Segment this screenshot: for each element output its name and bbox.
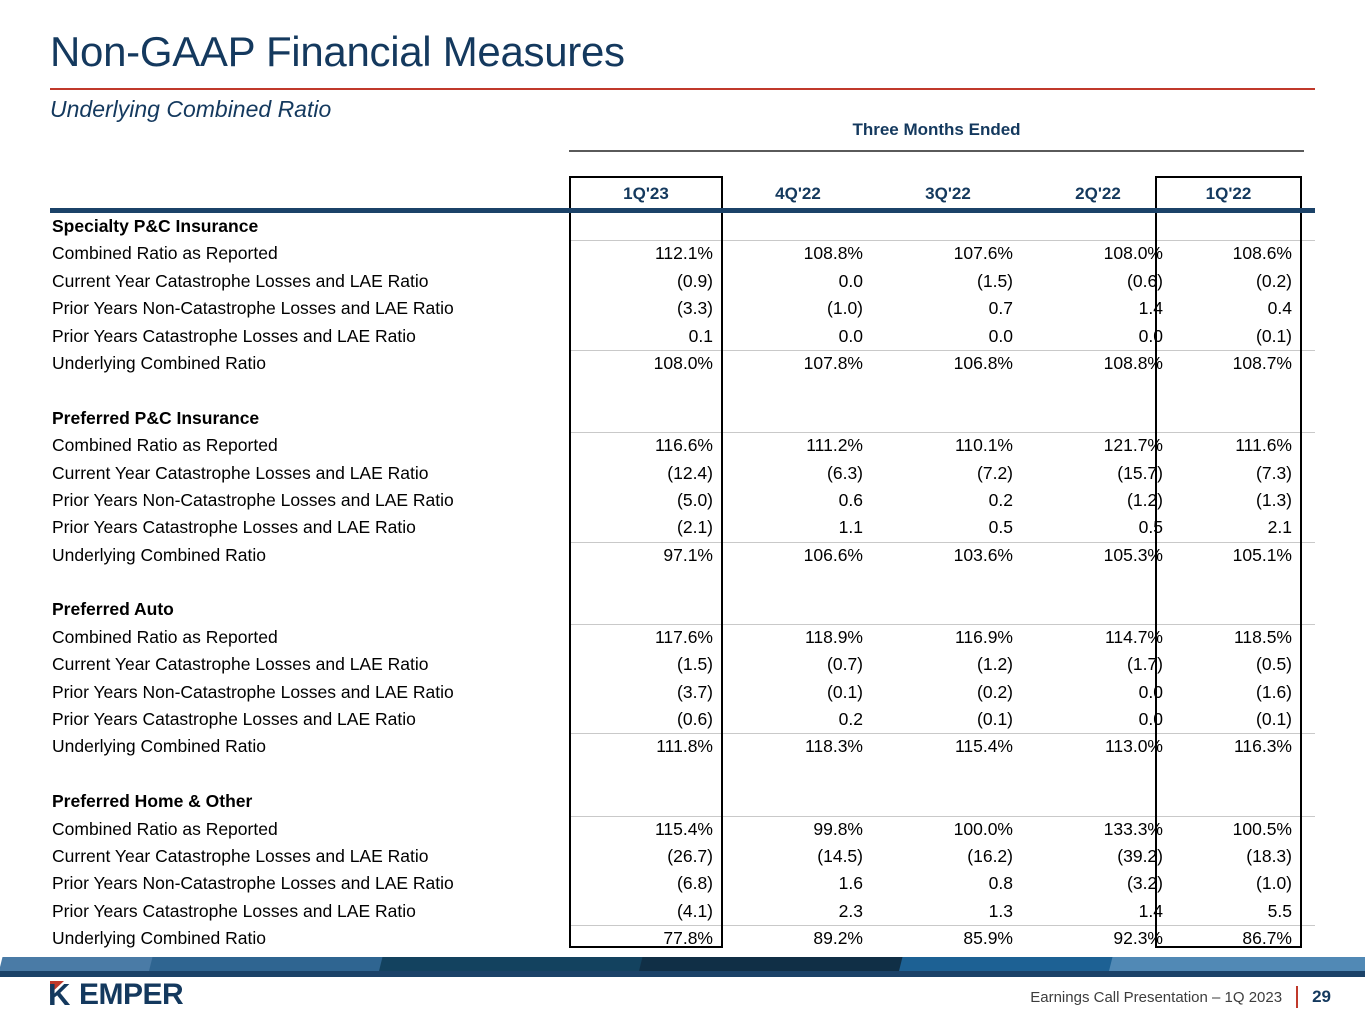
table-cell: 92.3% xyxy=(1023,925,1163,952)
table-cell: 0.8 xyxy=(873,870,1013,897)
kemper-logo: K EMPER xyxy=(48,980,183,1010)
table-cell: 108.8% xyxy=(723,240,863,267)
table-cell: 107.6% xyxy=(873,240,1013,267)
table-cell: (0.1) xyxy=(1155,706,1292,733)
table-cell: (1.2) xyxy=(1023,487,1163,514)
table-cell: 2.3 xyxy=(723,898,863,925)
table-cell: 1.3 xyxy=(873,898,1013,925)
table-cell: 1.4 xyxy=(1023,295,1163,322)
table-cell: 0.0 xyxy=(1023,706,1163,733)
row-label: Current Year Catastrophe Losses and LAE … xyxy=(52,460,428,487)
table-cell: 106.6% xyxy=(723,542,863,569)
table-spacer-row xyxy=(50,569,1315,596)
row-label: Current Year Catastrophe Losses and LAE … xyxy=(52,651,428,678)
table-cell: 111.2% xyxy=(723,432,863,459)
table-cell: (16.2) xyxy=(873,843,1013,870)
table-row: Combined Ratio as Reported115.4%99.8%100… xyxy=(50,816,1315,843)
table-cell: 117.6% xyxy=(569,624,713,651)
table-cell: 0.6 xyxy=(723,487,863,514)
table-cell: 2.1 xyxy=(1155,514,1292,541)
kemper-logo-k: K xyxy=(48,980,69,1010)
table-cell: (3.3) xyxy=(569,295,713,322)
row-label: Underlying Combined Ratio xyxy=(52,350,266,377)
kemper-logo-wordmark: EMPER xyxy=(79,980,183,1010)
table-body: Specialty P&C InsuranceCombined Ratio as… xyxy=(50,213,1315,953)
table-cell: (12.4) xyxy=(569,460,713,487)
table-cell: 0.0 xyxy=(723,268,863,295)
table-cell: 0.5 xyxy=(873,514,1013,541)
table-row: Prior Years Non-Catastrophe Losses and L… xyxy=(50,679,1315,706)
section-header-label: Preferred Auto xyxy=(52,596,174,623)
table-cell: 100.0% xyxy=(873,816,1013,843)
non-gaap-table: Three Months Ended 1Q'234Q'223Q'222Q'221… xyxy=(50,120,1315,950)
row-label: Current Year Catastrophe Losses and LAE … xyxy=(52,843,428,870)
section-header-label: Preferred Home & Other xyxy=(52,788,252,815)
table-cell: (3.2) xyxy=(1023,870,1163,897)
table-row: Underlying Combined Ratio77.8%89.2%85.9%… xyxy=(50,925,1315,952)
column-group-header: Three Months Ended xyxy=(569,120,1304,140)
row-label: Underlying Combined Ratio xyxy=(52,733,266,760)
table-row: Combined Ratio as Reported112.1%108.8%10… xyxy=(50,240,1315,267)
table-row: Underlying Combined Ratio111.8%118.3%115… xyxy=(50,733,1315,760)
table-spacer-row xyxy=(50,761,1315,788)
table-cell: 105.1% xyxy=(1155,542,1292,569)
table-cell: 121.7% xyxy=(1023,432,1163,459)
row-label: Combined Ratio as Reported xyxy=(52,432,278,459)
table-row: Underlying Combined Ratio97.1%106.6%103.… xyxy=(50,542,1315,569)
table-cell: (0.6) xyxy=(569,706,713,733)
page-number: 29 xyxy=(1312,987,1331,1007)
table-section-header: Preferred P&C Insurance xyxy=(50,405,1315,432)
table-spacer-row xyxy=(50,377,1315,404)
footer-rule xyxy=(0,971,1365,977)
table-row: Prior Years Catastrophe Losses and LAE R… xyxy=(50,898,1315,925)
table-cell: (1.7) xyxy=(1023,651,1163,678)
table-cell: 108.0% xyxy=(569,350,713,377)
table-cell: 0.2 xyxy=(723,706,863,733)
table-cell: (0.5) xyxy=(1155,651,1292,678)
table-cell: 103.6% xyxy=(873,542,1013,569)
table-section-header: Preferred Auto xyxy=(50,596,1315,623)
table-row: Prior Years Catastrophe Losses and LAE R… xyxy=(50,706,1315,733)
row-label: Underlying Combined Ratio xyxy=(52,925,266,952)
table-cell: 86.7% xyxy=(1155,925,1292,952)
table-cell: (3.7) xyxy=(569,679,713,706)
column-header-3q22: 3Q'22 xyxy=(873,178,1023,210)
table-cell: 0.1 xyxy=(569,323,713,350)
table-cell: 97.1% xyxy=(569,542,713,569)
table-cell: 100.5% xyxy=(1155,816,1292,843)
table-row: Prior Years Non-Catastrophe Losses and L… xyxy=(50,295,1315,322)
page-title: Non-GAAP Financial Measures xyxy=(50,28,625,76)
page-subtitle: Underlying Combined Ratio xyxy=(50,96,331,123)
table-cell: 0.7 xyxy=(873,295,1013,322)
row-label: Prior Years Catastrophe Losses and LAE R… xyxy=(52,323,416,350)
table-cell: (6.3) xyxy=(723,460,863,487)
table-cell: (1.0) xyxy=(1155,870,1292,897)
row-label: Prior Years Catastrophe Losses and LAE R… xyxy=(52,898,416,925)
table-row: Combined Ratio as Reported116.6%111.2%11… xyxy=(50,432,1315,459)
table-cell: (4.1) xyxy=(569,898,713,925)
table-cell: 0.5 xyxy=(1023,514,1163,541)
table-cell: 108.7% xyxy=(1155,350,1292,377)
table-cell: 118.5% xyxy=(1155,624,1292,651)
row-label: Combined Ratio as Reported xyxy=(52,240,278,267)
table-cell: (0.6) xyxy=(1023,268,1163,295)
table-cell: (0.1) xyxy=(873,706,1013,733)
table-section-header: Preferred Home & Other xyxy=(50,788,1315,815)
table-cell: (0.2) xyxy=(873,679,1013,706)
table-cell: (0.2) xyxy=(1155,268,1292,295)
table-cell: (7.3) xyxy=(1155,460,1292,487)
row-label: Prior Years Catastrophe Losses and LAE R… xyxy=(52,706,416,733)
table-row: Current Year Catastrophe Losses and LAE … xyxy=(50,843,1315,870)
table-cell: 111.8% xyxy=(569,733,713,760)
table-cell: 118.9% xyxy=(723,624,863,651)
table-row: Underlying Combined Ratio108.0%107.8%106… xyxy=(50,350,1315,377)
column-group-rule xyxy=(569,150,1304,152)
table-row: Prior Years Catastrophe Losses and LAE R… xyxy=(50,514,1315,541)
table-cell: (0.7) xyxy=(723,651,863,678)
table-cell: 0.0 xyxy=(723,323,863,350)
table-cell: (5.0) xyxy=(569,487,713,514)
row-label: Prior Years Non-Catastrophe Losses and L… xyxy=(52,679,454,706)
table-cell: 5.5 xyxy=(1155,898,1292,925)
table-cell: 85.9% xyxy=(873,925,1013,952)
table-cell: 1.1 xyxy=(723,514,863,541)
table-cell: (1.5) xyxy=(569,651,713,678)
table-cell: (1.2) xyxy=(873,651,1013,678)
table-row: Current Year Catastrophe Losses and LAE … xyxy=(50,460,1315,487)
row-label: Combined Ratio as Reported xyxy=(52,816,278,843)
table-cell: 107.8% xyxy=(723,350,863,377)
table-cell: 77.8% xyxy=(569,925,713,952)
footer-meta: Earnings Call Presentation – 1Q 2023 29 xyxy=(1030,985,1331,1009)
table-row: Current Year Catastrophe Losses and LAE … xyxy=(50,268,1315,295)
table-cell: (2.1) xyxy=(569,514,713,541)
table-cell: 114.7% xyxy=(1023,624,1163,651)
title-underline-rule xyxy=(50,88,1315,90)
table-cell: 0.0 xyxy=(873,323,1013,350)
row-label: Underlying Combined Ratio xyxy=(52,542,266,569)
footer-caption: Earnings Call Presentation – 1Q 2023 xyxy=(1030,989,1282,1006)
table-cell: 0.2 xyxy=(873,487,1013,514)
table-cell: 106.8% xyxy=(873,350,1013,377)
column-header-2q22: 2Q'22 xyxy=(1023,178,1173,210)
table-row: Prior Years Non-Catastrophe Losses and L… xyxy=(50,487,1315,514)
table-cell: 133.3% xyxy=(1023,816,1163,843)
table-header-thick-rule xyxy=(50,208,1315,213)
table-cell: (1.6) xyxy=(1155,679,1292,706)
table-cell: 108.8% xyxy=(1023,350,1163,377)
table-cell: 112.1% xyxy=(569,240,713,267)
table-cell: 1.4 xyxy=(1023,898,1163,925)
table-cell: (39.2) xyxy=(1023,843,1163,870)
table-section-header: Specialty P&C Insurance xyxy=(50,213,1315,240)
table-cell: 111.6% xyxy=(1155,432,1292,459)
table-cell: (14.5) xyxy=(723,843,863,870)
row-label: Prior Years Non-Catastrophe Losses and L… xyxy=(52,295,454,322)
table-cell: (7.2) xyxy=(873,460,1013,487)
table-cell: 0.4 xyxy=(1155,295,1292,322)
table-cell: 1.6 xyxy=(723,870,863,897)
row-label: Prior Years Catastrophe Losses and LAE R… xyxy=(52,514,416,541)
table-cell: 116.3% xyxy=(1155,733,1292,760)
section-header-label: Specialty P&C Insurance xyxy=(52,213,258,240)
table-cell: (1.5) xyxy=(873,268,1013,295)
table-row: Combined Ratio as Reported117.6%118.9%11… xyxy=(50,624,1315,651)
row-label: Combined Ratio as Reported xyxy=(52,624,278,651)
table-row: Prior Years Catastrophe Losses and LAE R… xyxy=(50,323,1315,350)
table-cell: 118.3% xyxy=(723,733,863,760)
section-header-label: Preferred P&C Insurance xyxy=(52,405,259,432)
table-row: Current Year Catastrophe Losses and LAE … xyxy=(50,651,1315,678)
kemper-k-mark-icon: K xyxy=(48,980,78,1010)
table-cell: (15.7) xyxy=(1023,460,1163,487)
table-cell: 116.6% xyxy=(569,432,713,459)
row-label: Prior Years Non-Catastrophe Losses and L… xyxy=(52,870,454,897)
table-row: Prior Years Non-Catastrophe Losses and L… xyxy=(50,870,1315,897)
column-header-1q22: 1Q'22 xyxy=(1155,178,1302,210)
table-cell: 115.4% xyxy=(873,733,1013,760)
table-cell: (0.1) xyxy=(723,679,863,706)
table-cell: 113.0% xyxy=(1023,733,1163,760)
table-cell: 89.2% xyxy=(723,925,863,952)
column-header-4q22: 4Q'22 xyxy=(723,178,873,210)
table-cell: 115.4% xyxy=(569,816,713,843)
table-cell: (18.3) xyxy=(1155,843,1292,870)
table-cell: (26.7) xyxy=(569,843,713,870)
table-cell: 108.0% xyxy=(1023,240,1163,267)
row-label: Prior Years Non-Catastrophe Losses and L… xyxy=(52,487,454,514)
table-cell: (6.8) xyxy=(569,870,713,897)
table-cell: 116.9% xyxy=(873,624,1013,651)
row-label: Current Year Catastrophe Losses and LAE … xyxy=(52,268,428,295)
table-cell: 108.6% xyxy=(1155,240,1292,267)
table-cell: (1.0) xyxy=(723,295,863,322)
table-cell: (1.3) xyxy=(1155,487,1292,514)
table-cell: 110.1% xyxy=(873,432,1013,459)
table-cell: 0.0 xyxy=(1023,323,1163,350)
table-cell: 99.8% xyxy=(723,816,863,843)
table-cell: 105.3% xyxy=(1023,542,1163,569)
table-cell: (0.1) xyxy=(1155,323,1292,350)
column-header-1q23: 1Q'23 xyxy=(569,178,723,210)
table-cell: (0.9) xyxy=(569,268,713,295)
table-cell: 0.0 xyxy=(1023,679,1163,706)
footer-divider xyxy=(1296,986,1298,1008)
table-column-headers: 1Q'234Q'223Q'222Q'221Q'22 xyxy=(50,178,1315,210)
